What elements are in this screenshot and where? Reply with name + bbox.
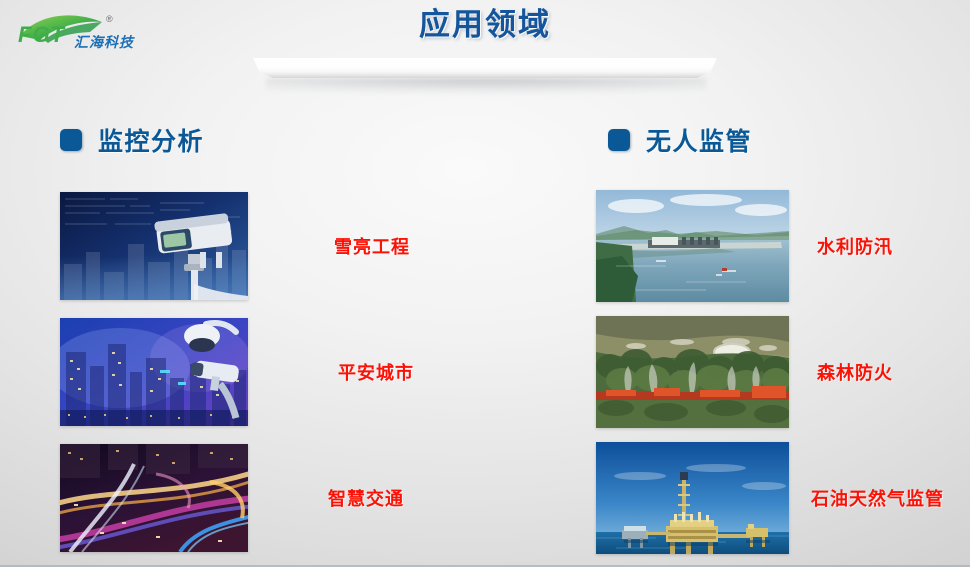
svg-text:FGT: FGT xyxy=(18,22,66,47)
thumbnail-offshore-oil-platform[interactable] xyxy=(596,442,789,554)
svg-text:®: ® xyxy=(106,14,113,24)
item-caption: 智慧交通 xyxy=(328,485,404,511)
item-caption: 石油天然气监管 xyxy=(811,485,944,511)
thumbnail-night-city-cameras[interactable] xyxy=(60,318,248,426)
section-unmanned-supervision: 无人监管 xyxy=(596,120,970,160)
section-header-left: 监控分析 xyxy=(60,120,500,160)
item-list-left: 雪亮工程 xyxy=(60,183,500,561)
thumbnail-forest-fire[interactable] xyxy=(596,316,789,428)
thumbnail-night-highway-interchange[interactable] xyxy=(60,444,248,552)
section-monitoring-analysis: 监控分析 xyxy=(60,120,500,160)
list-item[interactable]: 森林防火 xyxy=(596,309,970,435)
svg-text:汇海科技: 汇海科技 xyxy=(74,34,135,50)
square-bullet-icon xyxy=(60,129,82,151)
thumbnail-river-dam[interactable] xyxy=(596,190,789,302)
shelf-shadow xyxy=(266,78,706,100)
slide-canvas: FGT ® 汇海科技 应用领域 监控分析 xyxy=(0,0,970,567)
title-block: 应用领域 xyxy=(250,8,720,42)
item-caption: 平安城市 xyxy=(338,359,414,385)
item-caption: 森林防火 xyxy=(817,359,893,385)
list-item[interactable]: 石油天然气监管 xyxy=(596,435,970,561)
section-title-left: 监控分析 xyxy=(98,122,204,158)
list-item[interactable]: 平安城市 xyxy=(60,309,500,435)
section-header-right: 无人监管 xyxy=(596,120,970,160)
square-bullet-icon xyxy=(608,129,630,151)
thumbnail-cctv-camera[interactable] xyxy=(60,192,248,300)
shelf-front-edge xyxy=(257,72,713,78)
list-item[interactable]: 雪亮工程 xyxy=(60,183,500,309)
section-title-right: 无人监管 xyxy=(646,122,752,158)
list-item[interactable]: 水利防汛 xyxy=(596,183,970,309)
item-caption: 雪亮工程 xyxy=(334,233,410,259)
list-item[interactable]: 智慧交通 xyxy=(60,435,500,561)
shelf-graphic xyxy=(246,58,724,98)
shelf-top-surface xyxy=(246,58,724,74)
page-title: 应用领域 xyxy=(250,8,720,42)
company-logo: FGT ® 汇海科技 xyxy=(10,6,190,54)
item-list-right: 水利防汛 xyxy=(596,183,970,561)
item-caption: 水利防汛 xyxy=(817,233,893,259)
